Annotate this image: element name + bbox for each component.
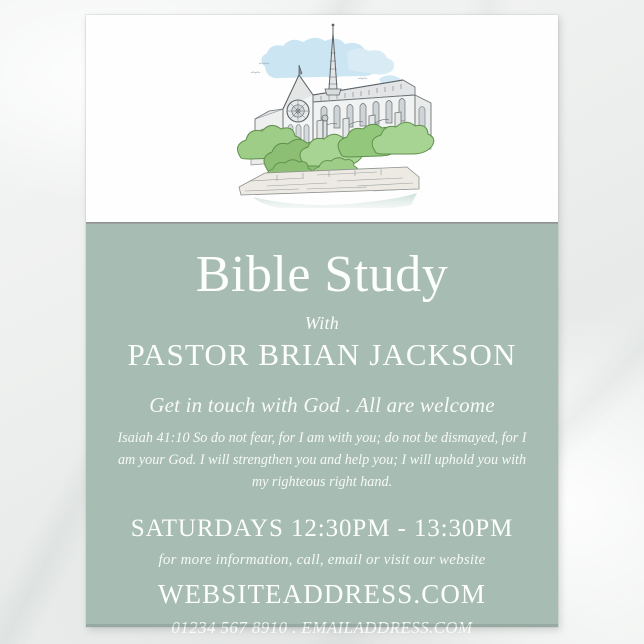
page-title: Bible Study [86,248,558,301]
riverbank [239,167,419,195]
bible-study-flyer: Bible Study With PASTOR BRIAN JACKSON Ge… [86,15,558,627]
flyer-body-panel: Bible Study With PASTOR BRIAN JACKSON Ge… [86,224,558,627]
pastor-name: PASTOR BRIAN JACKSON [86,338,558,373]
phone-and-email[interactable]: 01234 567 8910 . EMAILADDRESS.COM [86,618,558,638]
notre-dame-cathedral-icon [207,23,437,208]
with-label: With [86,313,558,334]
more-information-note: for more information, call, email or vis… [86,552,558,569]
scripture-verse: Isaiah 41:10 So do not fear, for I am wi… [112,427,532,493]
schedule-time: SATURDAYS 12:30PM - 13:30PM [86,515,558,543]
river-water [253,193,417,208]
tagline: Get in touch with God . All are welcome [86,393,558,418]
website-address[interactable]: WEBSITEADDRESS.COM [86,579,558,610]
illustration-panel [86,15,558,223]
